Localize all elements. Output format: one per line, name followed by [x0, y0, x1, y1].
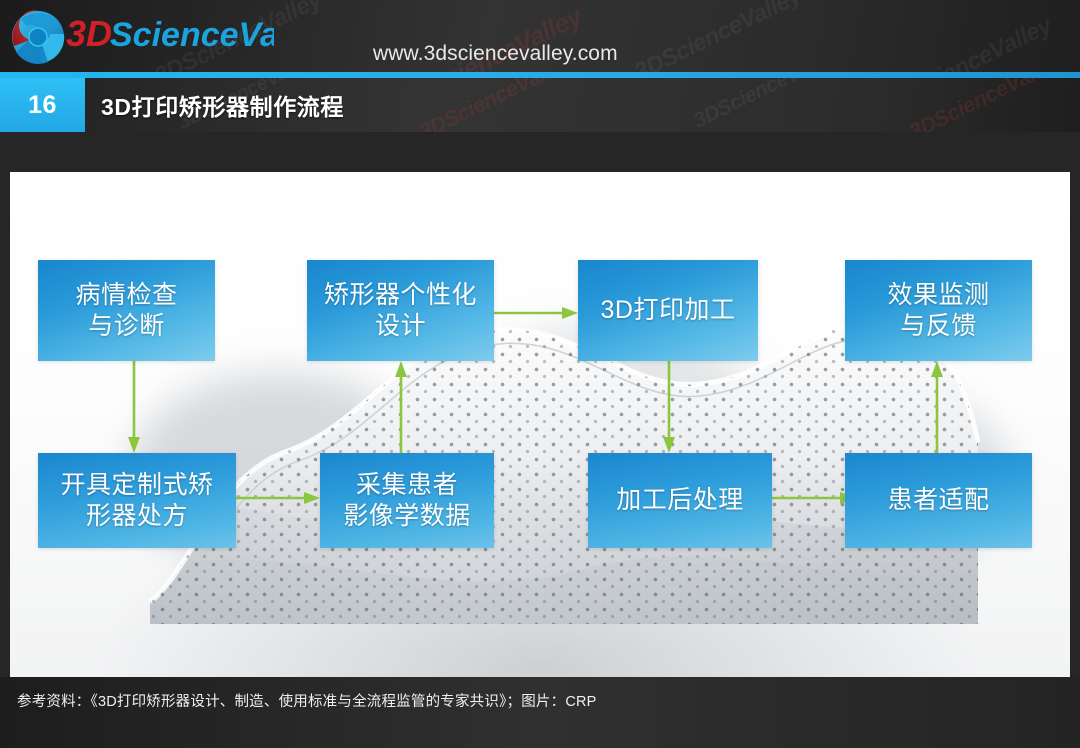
- flow-node-label: 开具定制式矫 形器处方: [60, 470, 213, 531]
- slide-footer: 参考资料：《3D打印矫形器设计、制造、使用标准与全流程监管的专家共识》；图片：C…: [0, 677, 1080, 748]
- node-label-line1: 效果监测: [887, 281, 989, 309]
- flow-node-label: 矫形器个性化 设计: [324, 280, 477, 341]
- arrow-n2-to-n3: [494, 305, 578, 321]
- flow-node-n5[interactable]: 开具定制式矫 形器处方: [38, 453, 236, 548]
- arrow-n5-to-n6: [236, 490, 320, 506]
- page-title: 3D打印矫形器制作流程: [101, 78, 344, 132]
- flow-node-n3[interactable]: 3D打印加工: [578, 260, 758, 361]
- wordmark-sciencevalley: ScienceValley: [110, 16, 274, 54]
- flow-node-label: 患者适配: [887, 485, 989, 516]
- spiral-aperture-logo-icon: [8, 8, 68, 66]
- arrow-n3-to-n7: [661, 361, 677, 453]
- arrow-n6-to-n2: [393, 361, 409, 453]
- flow-node-label: 采集患者 影像学数据: [343, 470, 471, 531]
- slide-canvas: 病情检查 与诊断 矫形器个性化 设计 3D打印加工 效果监测 与反馈 开具定制: [10, 172, 1070, 677]
- node-label-line1: 加工后处理: [616, 486, 744, 514]
- flow-node-n4[interactable]: 效果监测 与反馈: [845, 260, 1032, 361]
- title-bar: 3DScienceValley 3DScienceValley 3DScienc…: [0, 78, 1080, 132]
- presentation-slide: 3DScienceValley 3DScienceValley 3DScienc…: [0, 0, 1080, 748]
- node-label-line1: 病情检查: [75, 281, 177, 309]
- slide-header: 3DScienceValley 3DScienceValley 3DScienc…: [0, 0, 1080, 78]
- flow-node-n2[interactable]: 矫形器个性化 设计: [307, 260, 494, 361]
- node-label-line2: 与反馈: [900, 312, 977, 340]
- flow-node-label: 3D打印加工: [601, 295, 736, 326]
- node-label-line1: 矫形器个性化: [324, 281, 477, 309]
- node-label-line1: 采集患者: [356, 471, 458, 499]
- wordmark-3d: 3D: [66, 13, 112, 54]
- page-number-badge: 16: [0, 78, 85, 132]
- node-label-line1: 开具定制式矫: [60, 471, 213, 499]
- node-label-line2: 设计: [375, 312, 426, 340]
- flow-node-label: 效果监测 与反馈: [887, 280, 989, 341]
- flow-node-label: 病情检查 与诊断: [75, 280, 177, 341]
- source-citation: 参考资料：《3D打印矫形器设计、制造、使用标准与全流程监管的专家共识》；图片：C…: [17, 690, 597, 711]
- brand-wordmark: 3D ScienceValley: [66, 12, 274, 60]
- flow-node-n6[interactable]: 采集患者 影像学数据: [320, 453, 494, 548]
- node-label-line2: 影像学数据: [343, 502, 471, 530]
- site-url[interactable]: www.3dsciencevalley.com: [373, 42, 618, 66]
- node-label-line2: 与诊断: [88, 312, 165, 340]
- node-label-line1: 患者适配: [887, 486, 989, 514]
- footer-background: [0, 677, 1080, 748]
- flow-node-label: 加工后处理: [616, 485, 744, 516]
- arrow-n8-to-n4: [929, 361, 945, 453]
- flow-node-n7[interactable]: 加工后处理: [588, 453, 772, 548]
- node-label-line2: 形器处方: [86, 502, 188, 530]
- brand-logo[interactable]: 3D ScienceValley: [8, 4, 268, 70]
- node-label-line1: 3D打印加工: [601, 296, 736, 324]
- arrow-n7-to-n8: [772, 490, 856, 506]
- arrow-n1-to-n5: [126, 361, 142, 453]
- flow-node-n8[interactable]: 患者适配: [845, 453, 1032, 548]
- flow-node-n1[interactable]: 病情检查 与诊断: [38, 260, 215, 361]
